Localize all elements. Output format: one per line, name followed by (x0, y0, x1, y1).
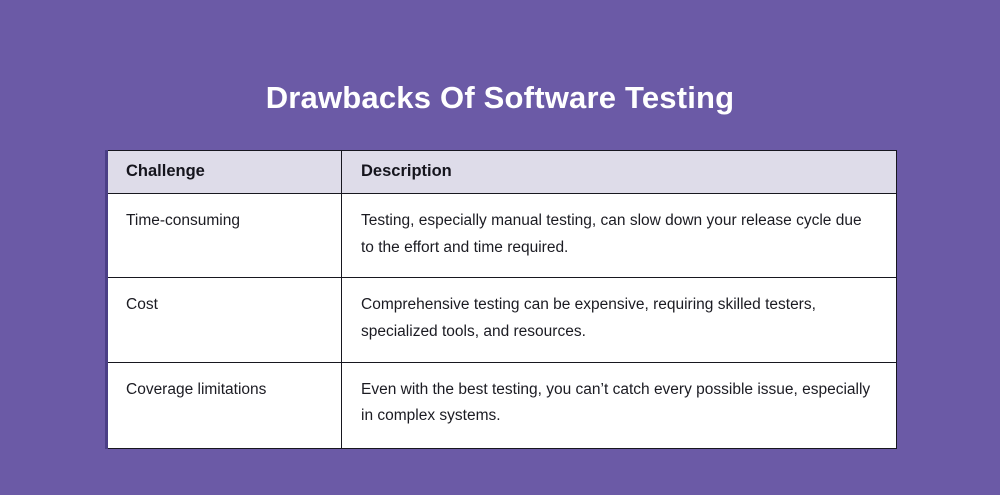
drawbacks-table-container: Challenge Description Time-consuming Tes… (105, 150, 895, 449)
table-row: Time-consuming Testing, especially manua… (107, 194, 897, 278)
cell-challenge: Coverage limitations (107, 362, 342, 448)
column-header-description: Description (342, 151, 897, 194)
table-header-row: Challenge Description (107, 151, 897, 194)
table-head: Challenge Description (107, 151, 897, 194)
table-row: Cost Comprehensive testing can be expens… (107, 278, 897, 362)
cell-challenge: Cost (107, 278, 342, 362)
cell-description: Even with the best testing, you can’t ca… (342, 362, 897, 448)
cell-challenge: Time-consuming (107, 194, 342, 278)
page-title: Drawbacks Of Software Testing (0, 79, 1000, 116)
column-header-challenge: Challenge (107, 151, 342, 194)
table-row: Coverage limitations Even with the best … (107, 362, 897, 448)
slide-canvas: Drawbacks Of Software Testing Challenge … (0, 0, 1000, 495)
table-body: Time-consuming Testing, especially manua… (107, 194, 897, 449)
cell-description: Testing, especially manual testing, can … (342, 194, 897, 278)
cell-description: Comprehensive testing can be expensive, … (342, 278, 897, 362)
drawbacks-table: Challenge Description Time-consuming Tes… (105, 150, 897, 449)
